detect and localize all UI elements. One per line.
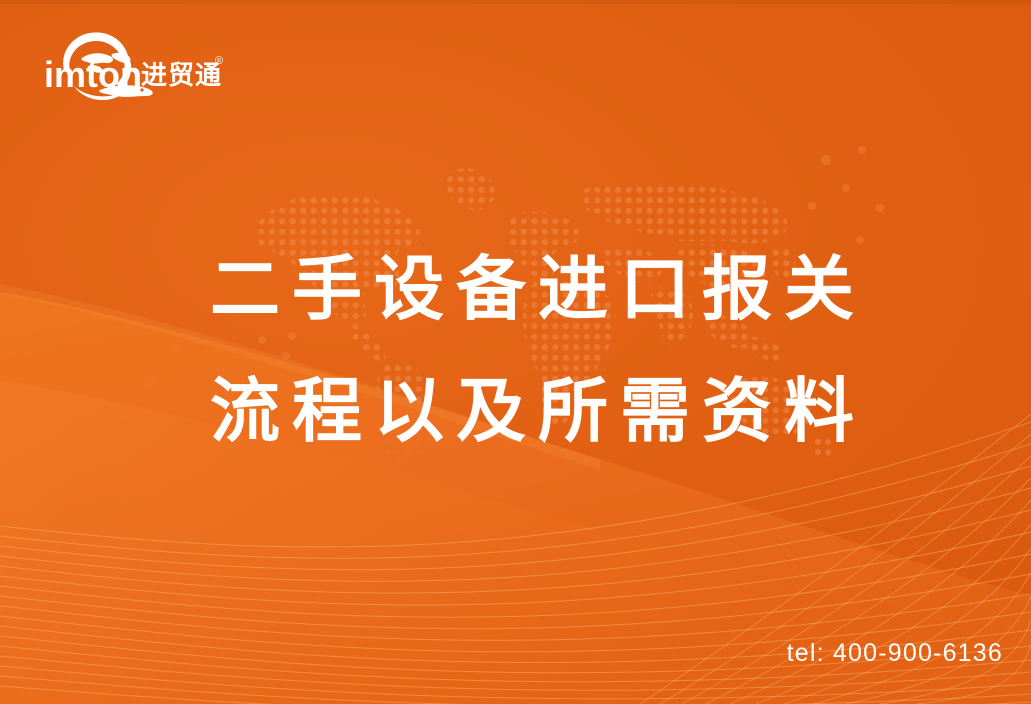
logo-chinese-name: 进贸通 (141, 60, 222, 90)
poster-canvas: imton 进贸通 ® 二手设备进口报关 流程以及所需资料 tel: 400-9… (0, 0, 1031, 704)
contact-phone: tel: 400-900-6136 (787, 639, 1003, 668)
trademark-icon: ® (215, 55, 223, 67)
brand-logo[interactable]: imton 进贸通 ® (42, 30, 227, 102)
logo-wordmark: imton (44, 54, 142, 95)
headline-line-2: 流程以及所需资料 (210, 350, 870, 472)
headline-block: 二手设备进口报关 流程以及所需资料 (210, 228, 870, 472)
headline-line-1: 二手设备进口报关 (210, 228, 870, 350)
